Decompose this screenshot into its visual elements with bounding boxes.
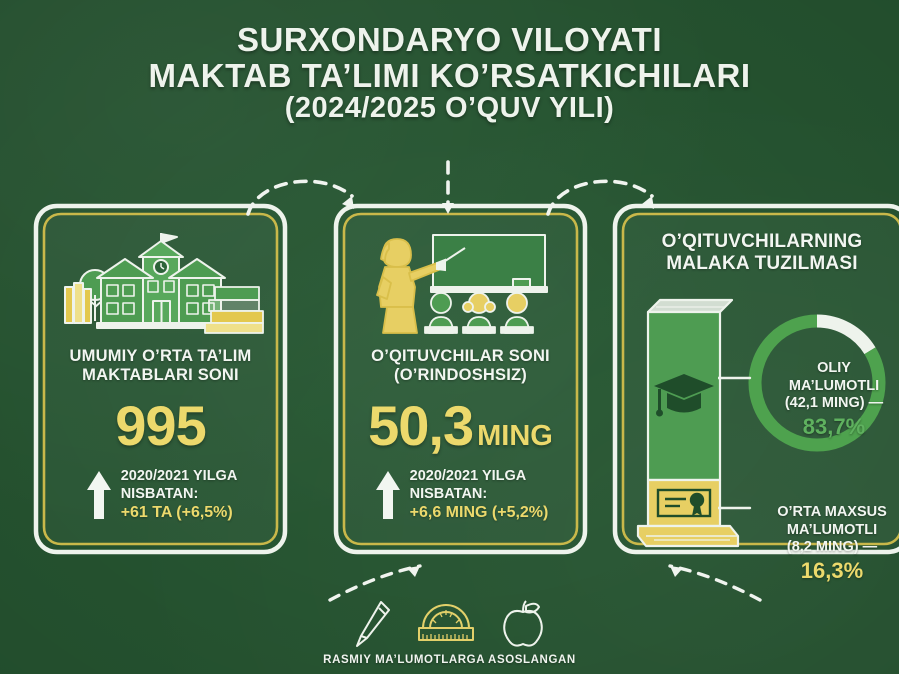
stat-value-schools: 995 [115, 398, 205, 454]
stat-unit: MING [477, 420, 553, 452]
stat-card-schools[interactable]: UMUMIY O’RTA TA’LIM MAKTABLARI SONI 995 … [33, 203, 288, 555]
footer-text: RASMIY MA’LUMOTLARGA ASOSLANGAN [0, 654, 899, 666]
higher-label-1: OLIY [817, 360, 851, 376]
card-title-line1: O’QITUVCHILAR SONI [371, 347, 550, 365]
title-line-3: (2024/2025 O’QUV YILI) [0, 93, 899, 124]
stat-card-teachers[interactable]: O’QITUVCHILAR SONI (O’RINDOSHSIZ) 50,3MI… [333, 203, 588, 555]
c3-title-line2: MALAKA TUZILMASI [666, 253, 857, 274]
leader-line-higher [718, 374, 752, 382]
stat-number: 50,3 [368, 394, 473, 457]
donut-label-higher: OLIY MA’LUMOTLI (42,1 MING) — 83,7% [754, 360, 899, 441]
dashed-arrows-top [0, 150, 899, 220]
delta-value: +61 TA (+6,5%) [121, 503, 238, 523]
secondary-label-2: MA’LUMOTLI [787, 522, 877, 538]
arrow-up-icon [86, 469, 112, 521]
delta-label-2: NISBATAN: [121, 486, 199, 502]
school-building-icon [53, 229, 269, 337]
delta-block-schools: 2020/2021 YILGA NISBATAN: +61 TA (+6,5%) [84, 468, 238, 523]
secondary-label-3: (8,2 MING) — [787, 539, 877, 555]
card-title-qualification: O’QITUVCHILARNING MALAKA TUZILMASI [662, 231, 863, 276]
delta-block-teachers: 2020/2021 YILGA NISBATAN: +6,6 MING (+5,… [373, 468, 549, 523]
page-title: SURXONDARYO VILOYATI MAKTAB TA’LIMI KO’R… [0, 22, 899, 125]
card-title-line2: MAKTABLARI SONI [70, 366, 252, 385]
delta-value: +6,6 MING (+5,2%) [410, 503, 549, 523]
footer-icons [0, 598, 899, 650]
pencil-icon [353, 598, 393, 650]
teacher-classroom-icon [353, 229, 569, 337]
delta-label-2: NISBATAN: [410, 486, 488, 502]
qualification-book-icon [634, 290, 746, 552]
higher-label-2: MA’LUMOTLI [789, 378, 879, 394]
stat-card-qualification[interactable]: O’QITUVCHILARNING MALAKA TUZILMASI [612, 203, 899, 555]
title-line-1: SURXONDARYO VILOYATI [0, 22, 899, 58]
delta-label-1: 2020/2021 YILGA [410, 468, 527, 484]
card-title-line1: UMUMIY O’RTA TA’LIM [70, 347, 252, 365]
stat-value-teachers: 50,3MING [368, 398, 553, 454]
stat-number: 995 [115, 394, 205, 457]
higher-percent: 83,7% [754, 414, 899, 441]
secondary-label-1: O’RTA MAXSUS [777, 504, 887, 520]
card-title-line2: (O’RINDOSHSIZ) [371, 366, 550, 385]
card-title-teachers: O’QITUVCHILAR SONI (O’RINDOSHSIZ) [371, 347, 550, 386]
delta-text-schools: 2020/2021 YILGA NISBATAN: +61 TA (+6,5%) [121, 468, 238, 523]
apple-icon [499, 598, 547, 650]
delta-text-teachers: 2020/2021 YILGA NISBATAN: +6,6 MING (+5,… [410, 468, 549, 523]
title-line-2: MAKTAB TA’LIMI KO’RSATKICHILARI [0, 58, 899, 94]
higher-label-3: (42,1 MING) — [785, 395, 883, 411]
arrow-up-icon [375, 469, 401, 521]
protractor-icon [413, 598, 479, 650]
card-title-schools: UMUMIY O’RTA TA’LIM MAKTABLARI SONI [70, 347, 252, 386]
footer: RASMIY MA’LUMOTLARGA ASOSLANGAN [0, 598, 899, 666]
c3-title-line1: O’QITUVCHILARNING [662, 231, 863, 252]
delta-label-1: 2020/2021 YILGA [121, 468, 238, 484]
